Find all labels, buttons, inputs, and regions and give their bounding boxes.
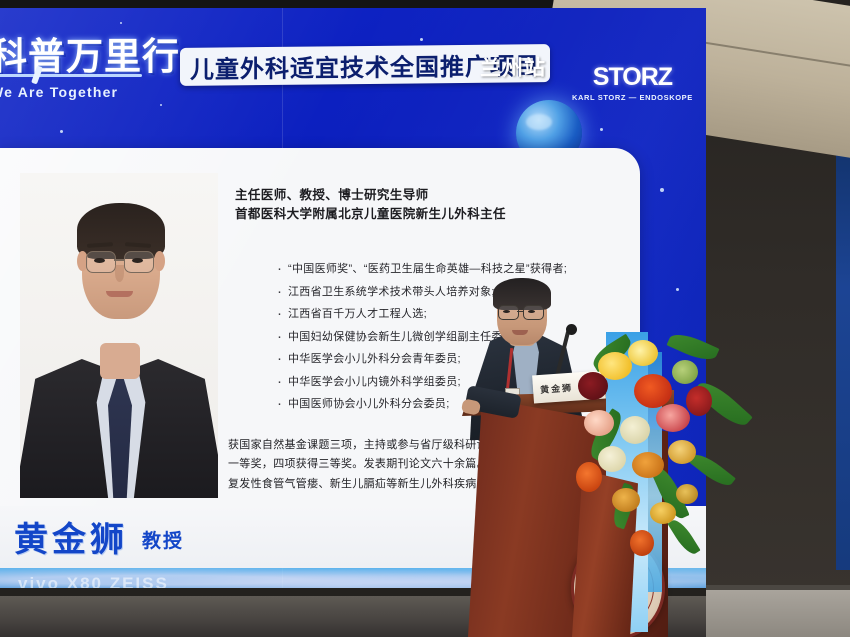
flower-orchid: [612, 488, 640, 512]
presenter-title: 教授: [142, 526, 184, 553]
slide-title-suffix: 兰州站: [480, 52, 546, 83]
speaker-eye-right: [528, 310, 535, 313]
campaign-logo-rule: [0, 74, 142, 77]
speaker-glasses-bridge: [517, 311, 523, 312]
portrait-mouth: [106, 291, 133, 297]
flower-anthurium: [686, 386, 712, 416]
flower-lily: [628, 340, 658, 366]
portrait-ear-right: [154, 251, 165, 271]
floor: [690, 590, 850, 637]
flower-arrangement: [572, 334, 762, 564]
star-dot: [676, 288, 679, 291]
star-dot: [60, 130, 63, 133]
presenter-portrait: [20, 173, 218, 498]
podium-name-card-text: 黄金狮: [540, 381, 574, 396]
screenshot-stage: 科普万里行 We Are Together 儿童外科适宜技术全国推广项目 兰州站…: [0, 0, 850, 637]
flower-cream: [620, 416, 650, 444]
flower-orchid: [650, 502, 676, 524]
credential-line: 首都医科大学附属北京儿童医院新生儿外科主任: [235, 205, 506, 224]
portrait-eye-left: [94, 258, 105, 263]
credential-line: 主任医师、教授、博士研究生导师: [235, 186, 506, 205]
flower-dahlia: [578, 372, 608, 400]
slide-header: 科普万里行 We Are Together 儿童外科适宜技术全国推广项目 兰州站…: [0, 8, 706, 120]
campaign-logo-en: We Are Together: [0, 84, 118, 100]
portrait-nose: [115, 265, 124, 282]
flower-tulip: [630, 530, 654, 556]
star-dot: [660, 188, 664, 192]
presenter-name: 黄金狮: [14, 512, 128, 561]
portrait-eye-right: [132, 258, 143, 263]
storz-wordmark: STORZ: [572, 63, 693, 92]
flower-orchid: [656, 404, 690, 432]
campaign-logo-cn: 科普万里行: [0, 26, 180, 80]
list-item: 江西省百千万人才工程人选;: [275, 309, 605, 321]
flower-bud: [672, 360, 698, 384]
storz-subtitle: KARL STORZ — ENDOSKOPE: [572, 93, 693, 102]
flower-tulip: [576, 462, 602, 492]
campaign-logo: 科普万里行 We Are Together: [0, 26, 165, 106]
speaker-mouth: [512, 330, 528, 335]
leaf: [667, 516, 700, 557]
star-dot: [600, 128, 603, 131]
portrait-neck: [100, 343, 140, 379]
list-item: 江西省卫生系统学术技术带头人培养对象;: [275, 287, 605, 299]
far-right-screen-sliver: [836, 100, 850, 570]
flower-cream: [598, 446, 626, 472]
presenter-credentials: 主任医师、教授、博士研究生导师 首都医科大学附属北京儿童医院新生儿外科主任: [235, 186, 506, 225]
flower-orchid: [668, 440, 696, 464]
leaf: [667, 329, 720, 366]
flower-orchid: [632, 452, 664, 478]
list-item: 中国妇幼保健协会新生儿微创学组副主任委员;: [275, 332, 605, 344]
speaker-eye-left: [503, 310, 510, 313]
portrait-glasses-bridge: [114, 259, 124, 261]
storz-logo: STORZ KARL STORZ — ENDOSKOPE: [572, 63, 693, 102]
list-item: “中国医师奖”、“医药卫生届生命英雄—科技之星”获得者;: [275, 264, 605, 276]
flower-rose: [584, 410, 614, 436]
flower-dahlia: [634, 374, 672, 408]
flower-bud: [676, 484, 698, 504]
